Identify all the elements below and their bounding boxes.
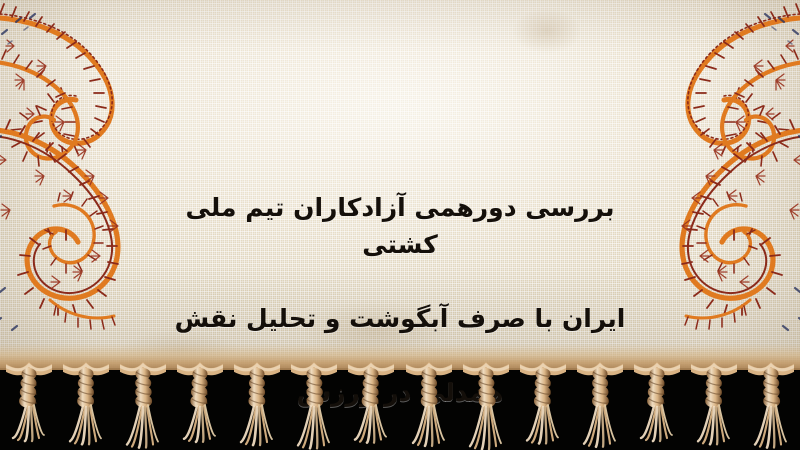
- fringe-tassel: [577, 358, 623, 450]
- fringe-tassel: [748, 358, 794, 450]
- fringe-tassel: [120, 358, 166, 450]
- fringe-tassel: [177, 358, 223, 450]
- fringe-tassel: [406, 358, 452, 450]
- fringe-tassel: [691, 358, 737, 450]
- fringe-tassel: [463, 358, 509, 450]
- fringe-tassel: [291, 358, 337, 450]
- headline-line-2: ایران با صرف آبگوشت و تحلیل نقش: [170, 300, 630, 337]
- fringe-tassel: [634, 358, 680, 450]
- fringe-tassel: [6, 358, 52, 450]
- fringe-tassel: [63, 358, 109, 450]
- fabric-stain: [512, 8, 582, 54]
- tassel-fringe: [0, 358, 800, 450]
- fringe-tassel: [520, 358, 566, 450]
- banner-canvas: بررسی دورهمی آزادکاران تیم ملی کشتی ایرا…: [0, 0, 800, 450]
- fringe-tassel: [348, 358, 394, 450]
- fringe-tassel: [234, 358, 280, 450]
- headline-line-1: بررسی دورهمی آزادکاران تیم ملی کشتی: [170, 189, 630, 263]
